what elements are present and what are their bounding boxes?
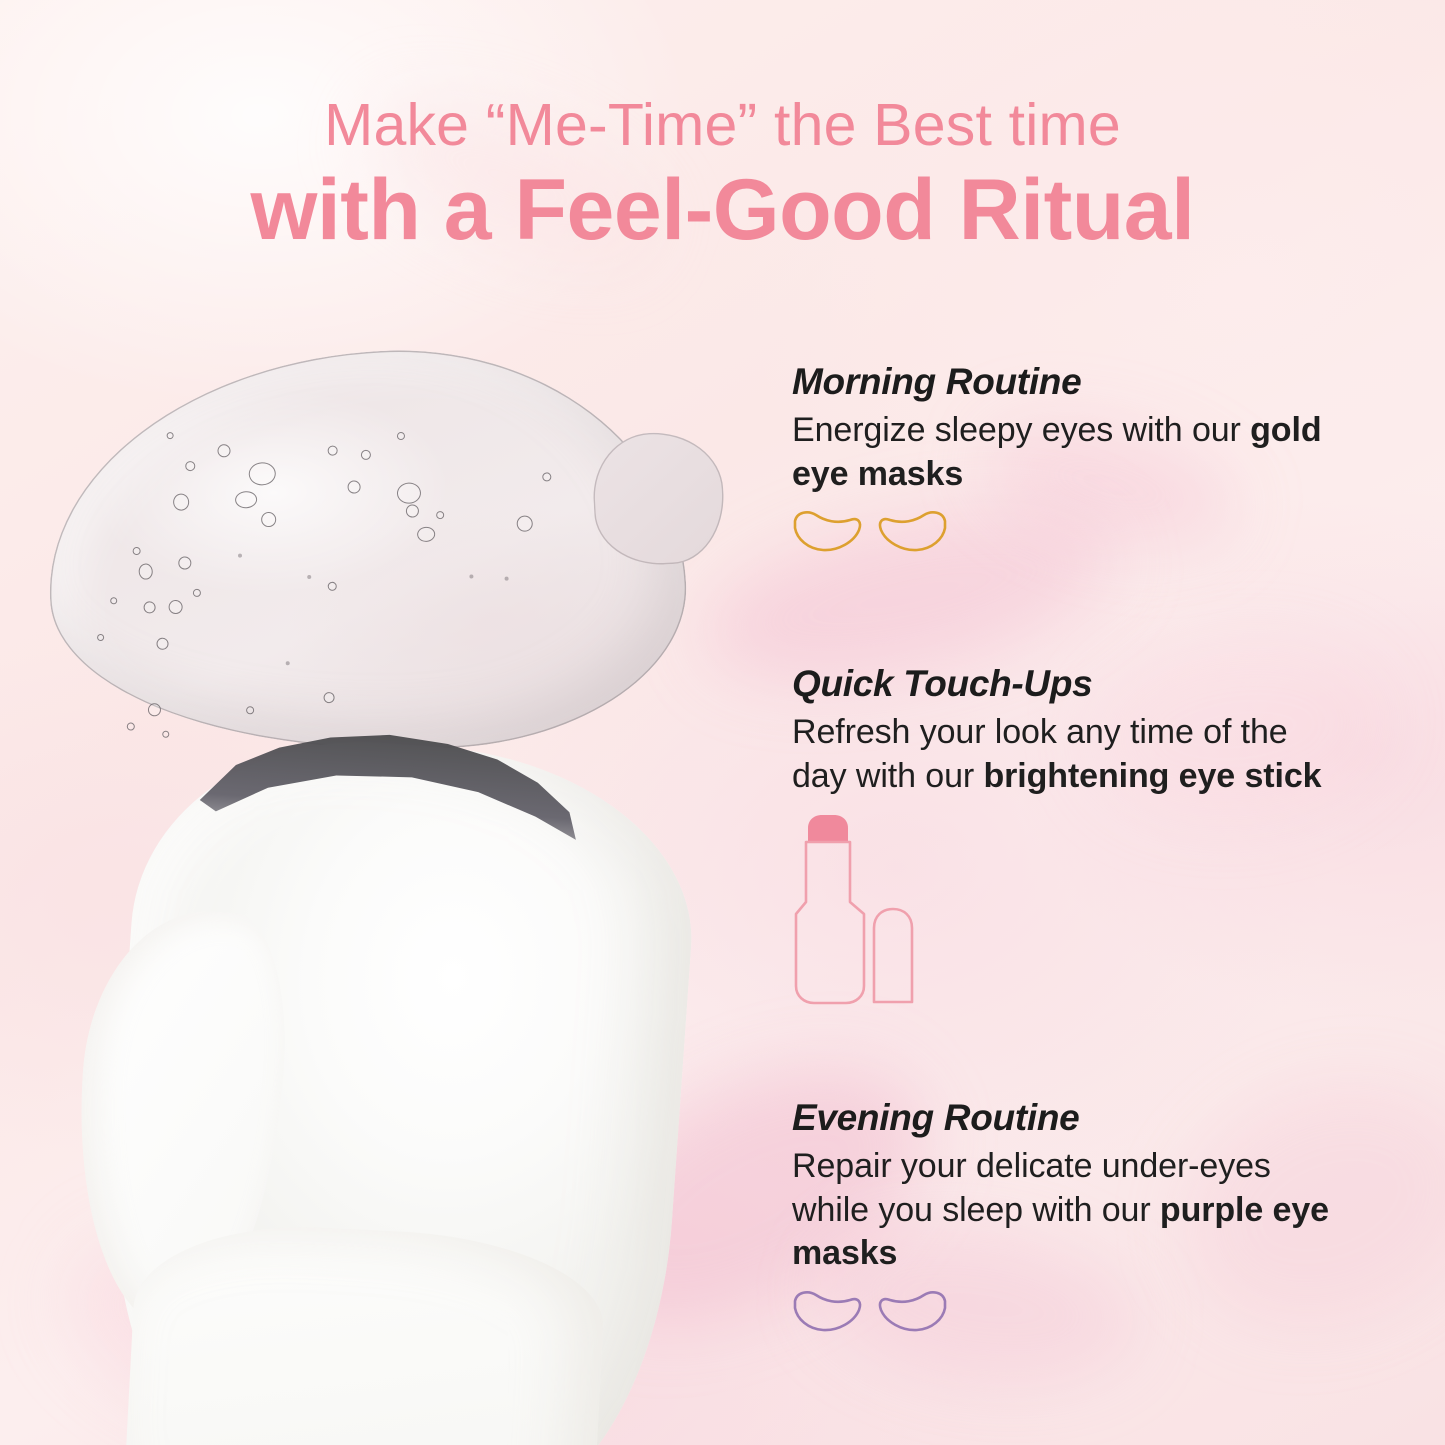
gel-bubble <box>397 432 405 440</box>
gel-bubble <box>110 597 117 604</box>
gel-bubble <box>248 462 276 486</box>
gel-bubble <box>238 553 242 557</box>
gel-bubble <box>97 634 104 641</box>
gel-bubble <box>406 504 420 518</box>
gel-bubble <box>217 444 231 458</box>
headline-line-1: Make “Me-Time” the Best time <box>0 96 1445 155</box>
eye-stick-body-icon <box>792 810 924 1010</box>
gel-bubble <box>347 480 361 494</box>
gel-bubble <box>173 493 190 511</box>
purple-eye-mask-left-icon <box>792 1288 864 1334</box>
gold-eye-mask-right-icon <box>876 508 948 554</box>
headline: Make “Me-Time” the Best time with a Feel… <box>0 96 1445 253</box>
gel-bubble <box>307 575 311 579</box>
body-text-prefix: Energize sleepy eyes with our <box>792 411 1250 449</box>
section-body-morning: Energize sleepy eyes with our gold eye m… <box>792 409 1332 497</box>
gel-bubble <box>286 661 290 665</box>
gel-bubble <box>143 601 156 614</box>
gel-bubble <box>417 526 436 542</box>
section-body-quick: Refresh your look any time of the day wi… <box>792 711 1332 799</box>
gel-bubble <box>193 589 201 597</box>
body-text-bold: brightening eye stick <box>983 757 1321 795</box>
gel-bubble <box>504 577 508 581</box>
purple-eye-masks-icon <box>792 1288 1332 1334</box>
gold-eye-mask-left-icon <box>792 508 864 554</box>
gel-bubble <box>327 445 338 456</box>
section-evening-routine: Evening Routine Repair your delicate und… <box>792 1098 1332 1334</box>
gel-bubble <box>138 563 153 580</box>
section-body-evening: Repair your delicate under-eyes while yo… <box>792 1145 1332 1277</box>
gel-bubble <box>168 600 183 615</box>
gel-bubble <box>323 692 335 704</box>
headline-line-2: with a Feel-Good Ritual <box>0 167 1445 253</box>
gel-bubble <box>166 432 173 439</box>
gel-bubble <box>185 461 196 472</box>
section-morning-routine: Morning Routine Energize sleepy eyes wit… <box>792 362 1332 554</box>
gel-bubble <box>516 515 533 532</box>
gel-bubble <box>235 491 258 509</box>
gel-bubble <box>156 637 169 650</box>
gold-eye-masks-icon <box>792 508 1332 554</box>
gel-bubble <box>261 512 277 528</box>
gel-bubble <box>436 511 444 519</box>
gel-bubble <box>328 582 337 591</box>
gel-bubble <box>542 472 551 481</box>
section-heading-quick: Quick Touch-Ups <box>792 664 1332 705</box>
gel-bubble <box>396 482 421 504</box>
section-heading-evening: Evening Routine <box>792 1098 1332 1139</box>
gel-bubble <box>132 547 140 555</box>
gel-bubble <box>246 706 254 714</box>
section-heading-morning: Morning Routine <box>792 362 1332 403</box>
gel-bubble <box>178 556 192 570</box>
gel-bubble <box>469 574 473 578</box>
eye-stick-icon <box>792 810 1332 1010</box>
purple-eye-mask-right-icon <box>876 1288 948 1334</box>
gel-bubble <box>361 450 372 461</box>
infographic-canvas: Make “Me-Time” the Best time with a Feel… <box>0 0 1445 1445</box>
section-quick-touch-ups: Quick Touch-Ups Refresh your look any ti… <box>792 664 1332 1010</box>
